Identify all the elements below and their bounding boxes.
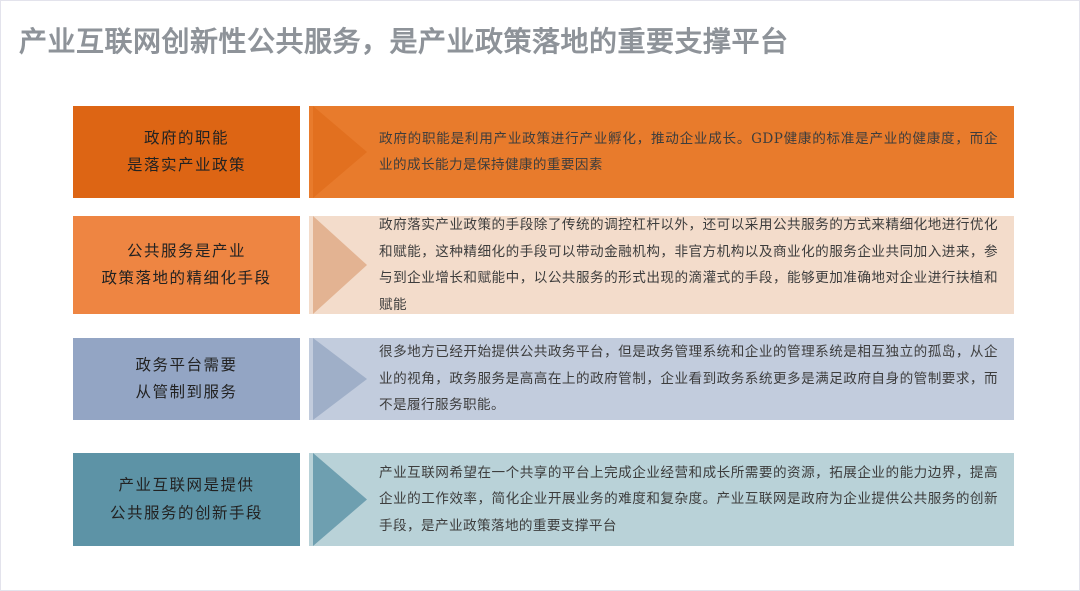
content-row: 政府的职能 是落实产业政策 政府的职能是利用产业政策进行产业孵化，推动企业成长。… <box>73 106 1014 198</box>
right-chevron-icon <box>309 453 371 546</box>
page-title: 产业互联网创新性公共服务，是产业政策落地的重要支撑平台 <box>19 20 789 60</box>
row-body-text: 政府的职能是利用产业政策进行产业孵化，推动企业成长。GDP健康的标准是产业的健康… <box>379 106 998 198</box>
slide-canvas: 产业互联网创新性公共服务，是产业政策落地的重要支撑平台 政府的职能 是落实产业政… <box>0 0 1080 591</box>
row-label-box[interactable]: 政务平台需要 从管制到服务 <box>73 338 300 420</box>
content-row: 公共服务是产业 政策落地的精细化手段 政府落实产业政策的手段除了传统的调控杠杆以… <box>73 216 1014 314</box>
content-row: 政务平台需要 从管制到服务 很多地方已经开始提供公共政务平台，但是政务管理系统和… <box>73 338 1014 420</box>
right-chevron-icon <box>309 216 371 314</box>
row-label-text: 政务平台需要 从管制到服务 <box>135 352 237 406</box>
row-body-box[interactable]: 政府的职能是利用产业政策进行产业孵化，推动企业成长。GDP健康的标准是产业的健康… <box>309 106 1014 198</box>
row-body-text: 产业互联网希望在一个共享的平台上完成企业经营和成长所需要的资源，拓展企业的能力边… <box>379 453 998 546</box>
row-body-box[interactable]: 政府落实产业政策的手段除了传统的调控杠杆以外，还可以采用公共服务的方式来精细化地… <box>309 216 1014 314</box>
row-body-box[interactable]: 产业互联网希望在一个共享的平台上完成企业经营和成长所需要的资源，拓展企业的能力边… <box>309 453 1014 546</box>
row-label-text: 公共服务是产业 政策落地的精细化手段 <box>101 238 271 292</box>
row-body-text: 政府落实产业政策的手段除了传统的调控杠杆以外，还可以采用公共服务的方式来精细化地… <box>379 216 998 314</box>
row-label-text: 产业互联网是提供 公共服务的创新手段 <box>110 472 263 526</box>
row-body-box[interactable]: 很多地方已经开始提供公共政务平台，但是政务管理系统和企业的管理系统是相互独立的孤… <box>309 338 1014 420</box>
right-chevron-icon <box>309 338 371 420</box>
row-body-text: 很多地方已经开始提供公共政务平台，但是政务管理系统和企业的管理系统是相互独立的孤… <box>379 338 998 420</box>
row-label-text: 政府的职能 是落实产业政策 <box>127 125 246 179</box>
row-label-box[interactable]: 公共服务是产业 政策落地的精细化手段 <box>73 216 300 314</box>
right-chevron-icon <box>309 106 371 198</box>
row-label-box[interactable]: 产业互联网是提供 公共服务的创新手段 <box>73 453 300 546</box>
row-label-box[interactable]: 政府的职能 是落实产业政策 <box>73 106 300 198</box>
content-row: 产业互联网是提供 公共服务的创新手段 产业互联网希望在一个共享的平台上完成企业经… <box>73 453 1014 546</box>
